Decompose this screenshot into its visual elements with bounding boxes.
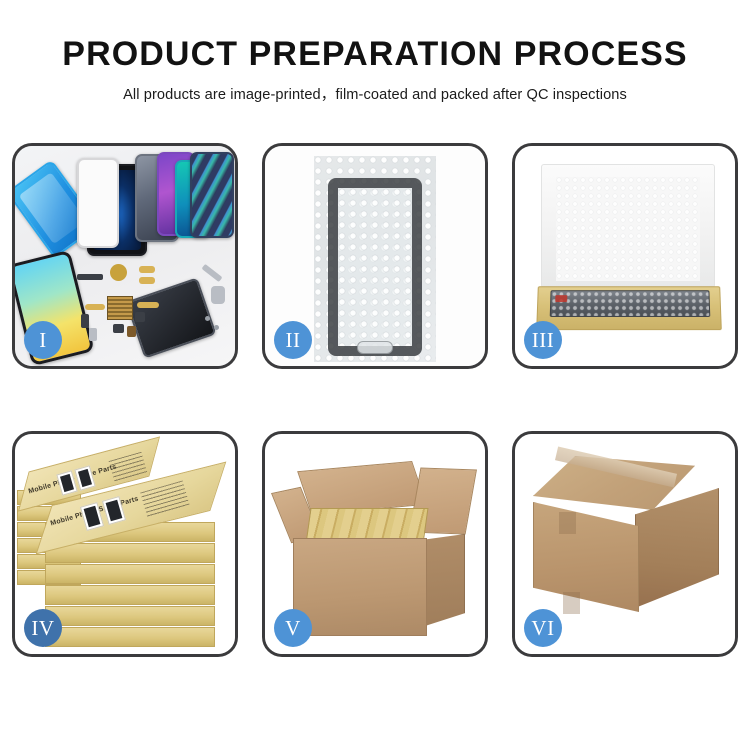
bubble-wrap-sheet bbox=[314, 156, 436, 362]
step-badge-1: I bbox=[24, 321, 62, 359]
page-subtitle: All products are image-printed，film-coat… bbox=[0, 83, 750, 104]
process-step-2: II bbox=[262, 143, 488, 369]
header: PRODUCT PREPARATION PROCESS All products… bbox=[0, 34, 750, 104]
spare-part bbox=[127, 326, 136, 337]
foam-lid bbox=[541, 164, 715, 288]
stacked-box bbox=[45, 627, 215, 647]
spare-part bbox=[139, 266, 155, 273]
spare-part bbox=[89, 328, 97, 341]
kraft-box-tray bbox=[536, 286, 722, 330]
stacked-box bbox=[45, 543, 215, 563]
wrapped-screen bbox=[328, 178, 422, 356]
step-badge-5: V bbox=[274, 609, 312, 647]
spare-part bbox=[135, 312, 145, 322]
spare-part bbox=[81, 314, 89, 328]
process-step-grid: I II III bbox=[12, 143, 738, 683]
step-badge-4: IV bbox=[24, 609, 62, 647]
spare-part bbox=[205, 316, 210, 321]
spare-part bbox=[214, 325, 219, 330]
process-step-6: VI bbox=[512, 431, 738, 657]
step-badge-3: III bbox=[524, 321, 562, 359]
process-step-3: III bbox=[512, 143, 738, 369]
spare-part bbox=[139, 277, 155, 284]
product-preparation-infographic: PRODUCT PREPARATION PROCESS All products… bbox=[0, 0, 750, 750]
process-step-5: V bbox=[262, 431, 488, 657]
spare-part bbox=[137, 302, 159, 308]
spare-part bbox=[211, 286, 225, 304]
page-title: PRODUCT PREPARATION PROCESS bbox=[0, 34, 750, 74]
spare-part bbox=[110, 264, 127, 281]
carton-front-panel bbox=[293, 538, 427, 636]
spare-part bbox=[85, 304, 105, 310]
carton-side-panel bbox=[425, 534, 465, 626]
process-step-4: Mobile Phone Spare Parts Mobile Phone Sp… bbox=[12, 431, 238, 657]
step-badge-2: II bbox=[274, 321, 312, 359]
carton-flap-tab bbox=[563, 592, 580, 614]
spare-part bbox=[77, 274, 103, 280]
carton-flap-tab bbox=[559, 512, 576, 534]
step-badge-6: VI bbox=[524, 609, 562, 647]
white-phone-display bbox=[77, 158, 119, 248]
process-step-1: I bbox=[12, 143, 238, 369]
stacked-box bbox=[45, 606, 215, 626]
packed-screen bbox=[550, 290, 711, 317]
spare-part bbox=[107, 296, 133, 320]
stacked-box bbox=[45, 585, 215, 605]
gradient-phone-display bbox=[190, 152, 234, 238]
stacked-box bbox=[45, 564, 215, 584]
spare-part bbox=[113, 324, 124, 333]
